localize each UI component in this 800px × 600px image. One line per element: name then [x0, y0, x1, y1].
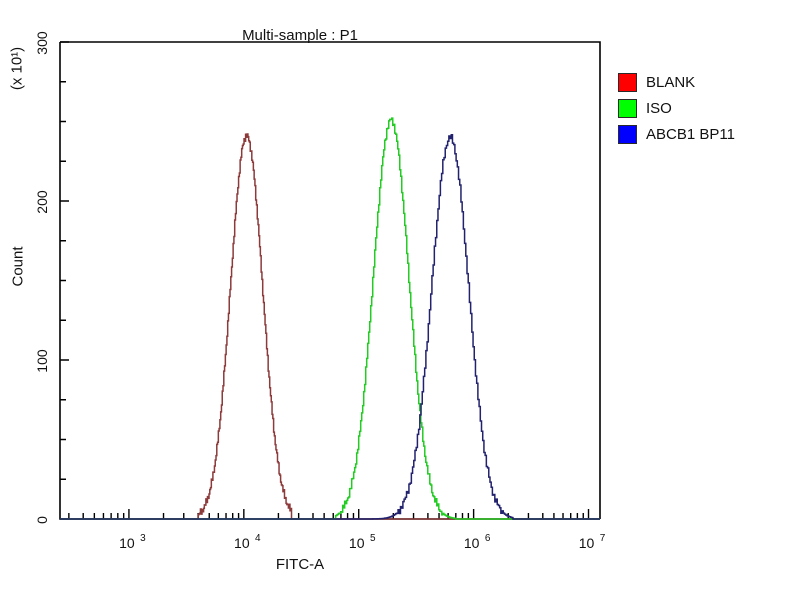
y-tick-label: 200 [34, 190, 50, 214]
y-axis-label: Count [10, 227, 27, 307]
y-axis-multiplier-label: (x 10¹) [9, 39, 26, 99]
svg-text:10: 10 [234, 535, 250, 551]
svg-text:10: 10 [579, 535, 595, 551]
histogram-curve [60, 135, 600, 519]
x-axis-label: FITC-A [0, 556, 600, 573]
svg-text:5: 5 [370, 533, 376, 544]
legend-label: BLANK [646, 74, 695, 91]
svg-text:10: 10 [349, 535, 365, 551]
y-tick-label: 0 [34, 516, 50, 524]
tick-labels: 0100200300103104105106107 [34, 31, 606, 551]
x-tick-label: 103 [119, 533, 146, 551]
histogram-curve [60, 118, 600, 519]
legend-item: BLANK [618, 70, 735, 94]
legend-label: ISO [646, 100, 672, 117]
legend-swatch-icon [618, 73, 637, 92]
svg-text:10: 10 [464, 535, 480, 551]
svg-text:10: 10 [119, 535, 135, 551]
svg-text:7: 7 [600, 533, 606, 544]
chart-title: Multi-sample : P1 [0, 27, 600, 44]
legend-label: ABCB1 BP11 [646, 126, 735, 143]
svg-text:6: 6 [485, 533, 491, 544]
legend-swatch-icon [618, 125, 637, 144]
svg-text:4: 4 [255, 533, 261, 544]
histogram-curves [60, 118, 600, 519]
histogram-curve [60, 134, 600, 519]
flow-cytometry-histogram: Multi-sample : P1 (x 10¹) Count FITC-A 0… [0, 0, 800, 600]
x-tick-label: 105 [349, 533, 376, 551]
legend: BLANKISOABCB1 BP11 [618, 70, 735, 148]
x-tick-label: 106 [464, 533, 491, 551]
axes [60, 42, 600, 519]
svg-text:3: 3 [140, 533, 146, 544]
legend-item: ABCB1 BP11 [618, 122, 735, 146]
legend-swatch-icon [618, 99, 637, 118]
x-tick-label: 104 [234, 533, 261, 551]
y-tick-label: 100 [34, 349, 50, 373]
x-tick-label: 107 [579, 533, 606, 551]
legend-item: ISO [618, 96, 735, 120]
